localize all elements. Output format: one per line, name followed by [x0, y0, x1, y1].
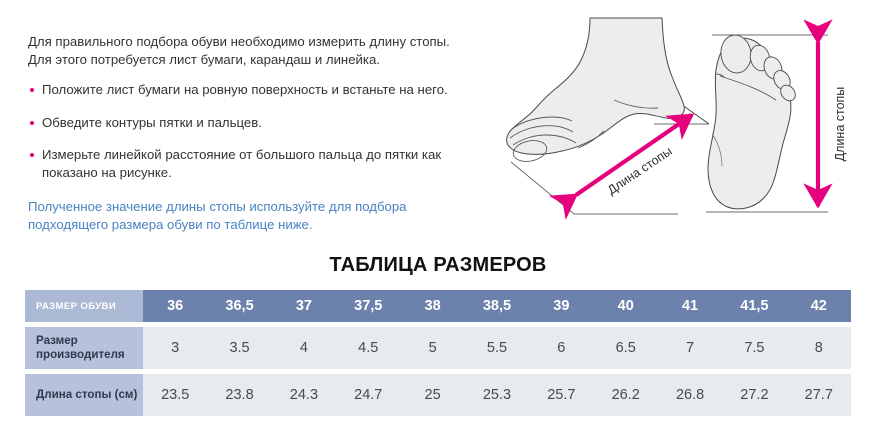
table-cell: 23.5 [143, 374, 207, 416]
table-row: Длина стопы (см) 23.5 23.8 24.3 24.7 25 … [25, 374, 851, 416]
table-cell: 36 [143, 290, 207, 322]
table-cell: 25 [400, 374, 464, 416]
table-cell: 41,5 [722, 290, 786, 322]
table-cell: 3 [143, 327, 207, 369]
table-cell: 7.5 [722, 327, 786, 369]
table-cell: 8 [787, 327, 851, 369]
table-cell: 41 [658, 290, 722, 322]
table-cell: 24.7 [336, 374, 400, 416]
table-cell: 26.2 [594, 374, 658, 416]
list-item: Измерьте линейкой расстояние от большого… [28, 146, 488, 181]
steps-list: Положите лист бумаги на ровную поверхнос… [28, 81, 488, 181]
table-cell: 40 [594, 290, 658, 322]
row-label: Длина стопы (см) [25, 374, 143, 416]
table-cell: 27.7 [787, 374, 851, 416]
outro-paragraph: Полученное значение длины стопы использу… [28, 198, 488, 233]
table-cell: 38 [400, 290, 464, 322]
table-row: Размер производителя 3 3.5 4 4.5 5 5.5 6… [25, 327, 851, 369]
table-cell: 7 [658, 327, 722, 369]
step-line: Измерьте линейкой расстояние от большого… [42, 146, 488, 164]
table-cell: 38,5 [465, 290, 529, 322]
intro-paragraph: Для правильного подбора обуви необходимо… [28, 33, 488, 68]
step-line: показано на рисунке. [42, 164, 488, 182]
row-label-text: Размер [36, 334, 125, 348]
table-row: РАЗМЕР ОБУВИ 36 36,5 37 37,5 38 38,5 39 … [25, 290, 851, 322]
row-label: Размер производителя [25, 327, 143, 369]
row-label-text: Длина стопы (см) [36, 388, 137, 402]
table-cell: 6.5 [594, 327, 658, 369]
row-label-text: РАЗМЕР ОБУВИ [36, 301, 116, 312]
table-cell: 26.8 [658, 374, 722, 416]
table-cell: 4.5 [336, 327, 400, 369]
step-line: Положите лист бумаги на ровную поверхнос… [42, 81, 488, 99]
table-cell: 36,5 [207, 290, 271, 322]
table-cell: 6 [529, 327, 593, 369]
intro-line-2: Для этого потребуется лист бумаги, каран… [28, 51, 488, 69]
row-label-text: производителя [36, 348, 125, 362]
side-view-foot-icon: Длина стопы [507, 18, 709, 214]
bullet-icon [30, 121, 34, 125]
table-cell: 27.2 [722, 374, 786, 416]
list-item: Обведите контуры пятки и пальцев. [28, 114, 488, 132]
foot-illustrations: Длина стопы [466, 14, 870, 239]
bullet-icon [30, 88, 34, 92]
table-cell: 37,5 [336, 290, 400, 322]
list-item: Положите лист бумаги на ровную поверхнос… [28, 81, 488, 99]
table-cell: 42 [787, 290, 851, 322]
table-cell: 37 [272, 290, 336, 322]
step-line: Обведите контуры пятки и пальцев. [42, 114, 488, 132]
table-cell: 39 [529, 290, 593, 322]
page-title: ТАБЛИЦА РАЗМЕРОВ [0, 254, 876, 277]
outro-line-2: подходящего размера обуви по таблице ниж… [28, 216, 488, 234]
table-cell: 25.3 [465, 374, 529, 416]
size-table: РАЗМЕР ОБУВИ 36 36,5 37 37,5 38 38,5 39 … [25, 290, 851, 416]
outro-line-1: Полученное значение длины стопы использу… [28, 198, 488, 216]
table-cell: 25.7 [529, 374, 593, 416]
sole-view-foot-icon: Длина стопы [706, 33, 847, 212]
table-cell: 4 [272, 327, 336, 369]
table-cell: 23.8 [207, 374, 271, 416]
intro-line-1: Для правильного подбора обуви необходимо… [28, 33, 488, 51]
instructions-block: Для правильного подбора обуви необходимо… [28, 33, 488, 233]
table-cell: 3.5 [207, 327, 271, 369]
table-cell: 5 [400, 327, 464, 369]
table-cell: 24.3 [272, 374, 336, 416]
bullet-icon [30, 153, 34, 157]
row-label: РАЗМЕР ОБУВИ [25, 290, 143, 322]
sole-view-length-label: Длина стопы [833, 87, 847, 162]
table-cell: 5.5 [465, 327, 529, 369]
